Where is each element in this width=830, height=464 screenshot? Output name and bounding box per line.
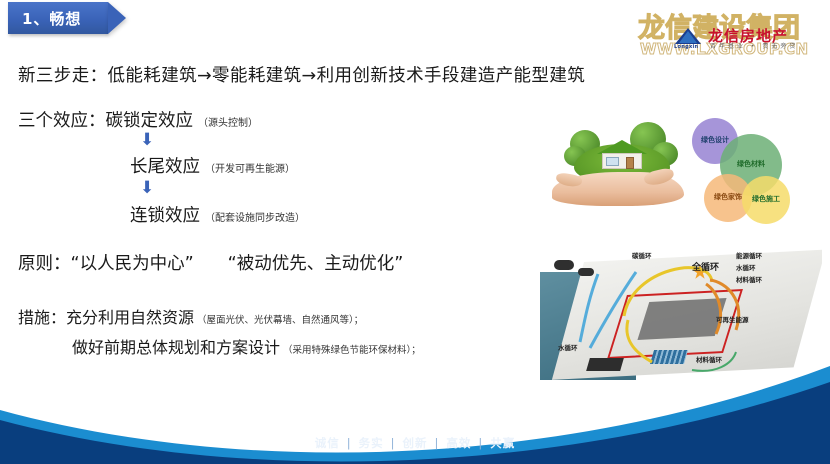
circle-green-decor-label: 绿色家饰 bbox=[714, 194, 742, 202]
footer-sep-1: | bbox=[347, 436, 352, 450]
circle-green-design-label: 绿色设计 bbox=[701, 137, 729, 145]
three-steps-line: 新三步走：低能耗建筑→零能耗建筑→利用创新技术手段建造产能型建筑 bbox=[18, 62, 585, 87]
footer-item-3: 创新 bbox=[403, 436, 428, 450]
company-logo: Longxin 龙信房地产 百年基业 • 责无旁贷 bbox=[674, 26, 824, 52]
house-icon bbox=[600, 140, 644, 168]
section-tab-arrow-icon bbox=[108, 2, 126, 34]
principle-line: 原则：“以人民为中心”“被动优先、主动优化” bbox=[18, 250, 403, 275]
principle-item-1: “以人民为中心” bbox=[71, 254, 194, 274]
footer-sep-2: | bbox=[391, 436, 396, 450]
slide-canvas: 1、畅想 龙信建设集团 WWW.LXGROUP.CN Longxin 龙信房地产… bbox=[0, 0, 830, 464]
effect-3-note: （配套设施同步改造） bbox=[205, 213, 305, 224]
measure-line-1: 措施：充分利用自然资源（屋面光伏、光伏幕墙、自然通风等）； bbox=[18, 304, 363, 328]
logo-slogan-text: 百年基业 • 责无旁贷 bbox=[710, 41, 798, 50]
effect-3-line: 连锁效应（配套设施同步改造） bbox=[130, 202, 305, 227]
effect-2-name: 长尾效应 bbox=[130, 157, 200, 177]
measure-1-note: （屋面光伏、光伏幕墙、自然通风等）； bbox=[197, 315, 363, 326]
label-water-cycle-legend: 水循环 bbox=[736, 262, 756, 272]
section-tab[interactable]: 1、畅想 bbox=[8, 2, 108, 34]
measure-2-note: （采用特殊绿色节能环保材料）； bbox=[283, 345, 421, 356]
full-cycle-illustration: 碳循环 全循环 能源循环 水循环 材料循环 可再生能源 水循环 材料循环 bbox=[540, 238, 822, 380]
footer-item-4: 高效 bbox=[446, 436, 471, 450]
house-door bbox=[626, 157, 634, 169]
footer-sep-3: | bbox=[435, 436, 440, 450]
green-building-illustration: 绿色设计 绿色材料 绿色家饰 绿色施工 bbox=[540, 112, 822, 224]
logo-english-text: Longxin bbox=[674, 44, 698, 50]
measures-title: 措施： bbox=[18, 308, 66, 327]
logo-chinese-text: 龙信房地产 bbox=[708, 25, 788, 46]
circle-green-construction-label: 绿色施工 bbox=[752, 196, 780, 204]
effect-2-line: 长尾效应（开发可再生能源） bbox=[130, 153, 295, 178]
triangle-logo-icon bbox=[674, 27, 702, 45]
effect-2-note: （开发可再生能源） bbox=[205, 164, 295, 175]
brand-watermark: 龙信建设集团 WWW.LXGROUP.CN Longxin 龙信房地产 百年基业… bbox=[638, 2, 824, 64]
hand-holding-house-image bbox=[548, 116, 688, 220]
measure-1-text: 充分利用自然资源 bbox=[66, 308, 194, 327]
label-material-cycle: 材料循环 bbox=[696, 354, 722, 364]
watermark-url-text: WWW.LXGROUP.CN bbox=[640, 40, 826, 58]
label-full-cycle: 全循环 bbox=[692, 260, 719, 273]
house-roof bbox=[597, 140, 647, 154]
principle-title: 原则： bbox=[18, 254, 71, 274]
footer-item-5: 共赢 bbox=[490, 436, 515, 450]
label-energy-cycle: 能源循环 bbox=[736, 250, 762, 260]
footer-sep-4: | bbox=[478, 436, 483, 450]
watermark-company-text: 龙信建设集团 bbox=[638, 6, 824, 45]
three-effects-title: 三个效应： bbox=[18, 111, 106, 131]
label-renewable-energy: 可再生能源 bbox=[716, 314, 749, 324]
footer-slogan: 诚信|务实|创新|高效|共赢 bbox=[0, 435, 830, 451]
effect-1-name: 碳锁定效应 bbox=[106, 111, 194, 131]
section-tab-label: 1、畅想 bbox=[8, 8, 81, 29]
measure-2-text: 做好前期总体规划和方案设计 bbox=[72, 338, 280, 357]
measure-line-2: 做好前期总体规划和方案设计（采用特殊绿色节能环保材料）； bbox=[72, 334, 421, 358]
green-circles-venn: 绿色设计 绿色材料 绿色家饰 绿色施工 bbox=[686, 112, 822, 224]
label-carbon-cycle: 碳循环 bbox=[632, 250, 652, 260]
circle-green-material-label: 绿色材料 bbox=[737, 161, 765, 169]
effect-1-note: （源头控制） bbox=[198, 118, 258, 129]
footer-item-2: 务实 bbox=[359, 436, 384, 450]
three-effects-line: 三个效应：碳锁定效应（源头控制） bbox=[18, 107, 258, 132]
label-material-cycle-legend: 材料循环 bbox=[736, 274, 762, 284]
down-arrow-icon-1: ⬇ bbox=[140, 132, 154, 149]
footer-item-1: 诚信 bbox=[315, 436, 340, 450]
house-window bbox=[606, 157, 619, 166]
cycle-arrows-svg bbox=[540, 238, 822, 380]
down-arrow-icon-2: ⬇ bbox=[140, 180, 154, 197]
label-water-cycle: 水循环 bbox=[558, 342, 578, 352]
principle-item-2: “被动优先、主动优化” bbox=[228, 254, 404, 274]
effect-3-name: 连锁效应 bbox=[130, 206, 200, 226]
circle-green-construction: 绿色施工 bbox=[742, 176, 790, 224]
